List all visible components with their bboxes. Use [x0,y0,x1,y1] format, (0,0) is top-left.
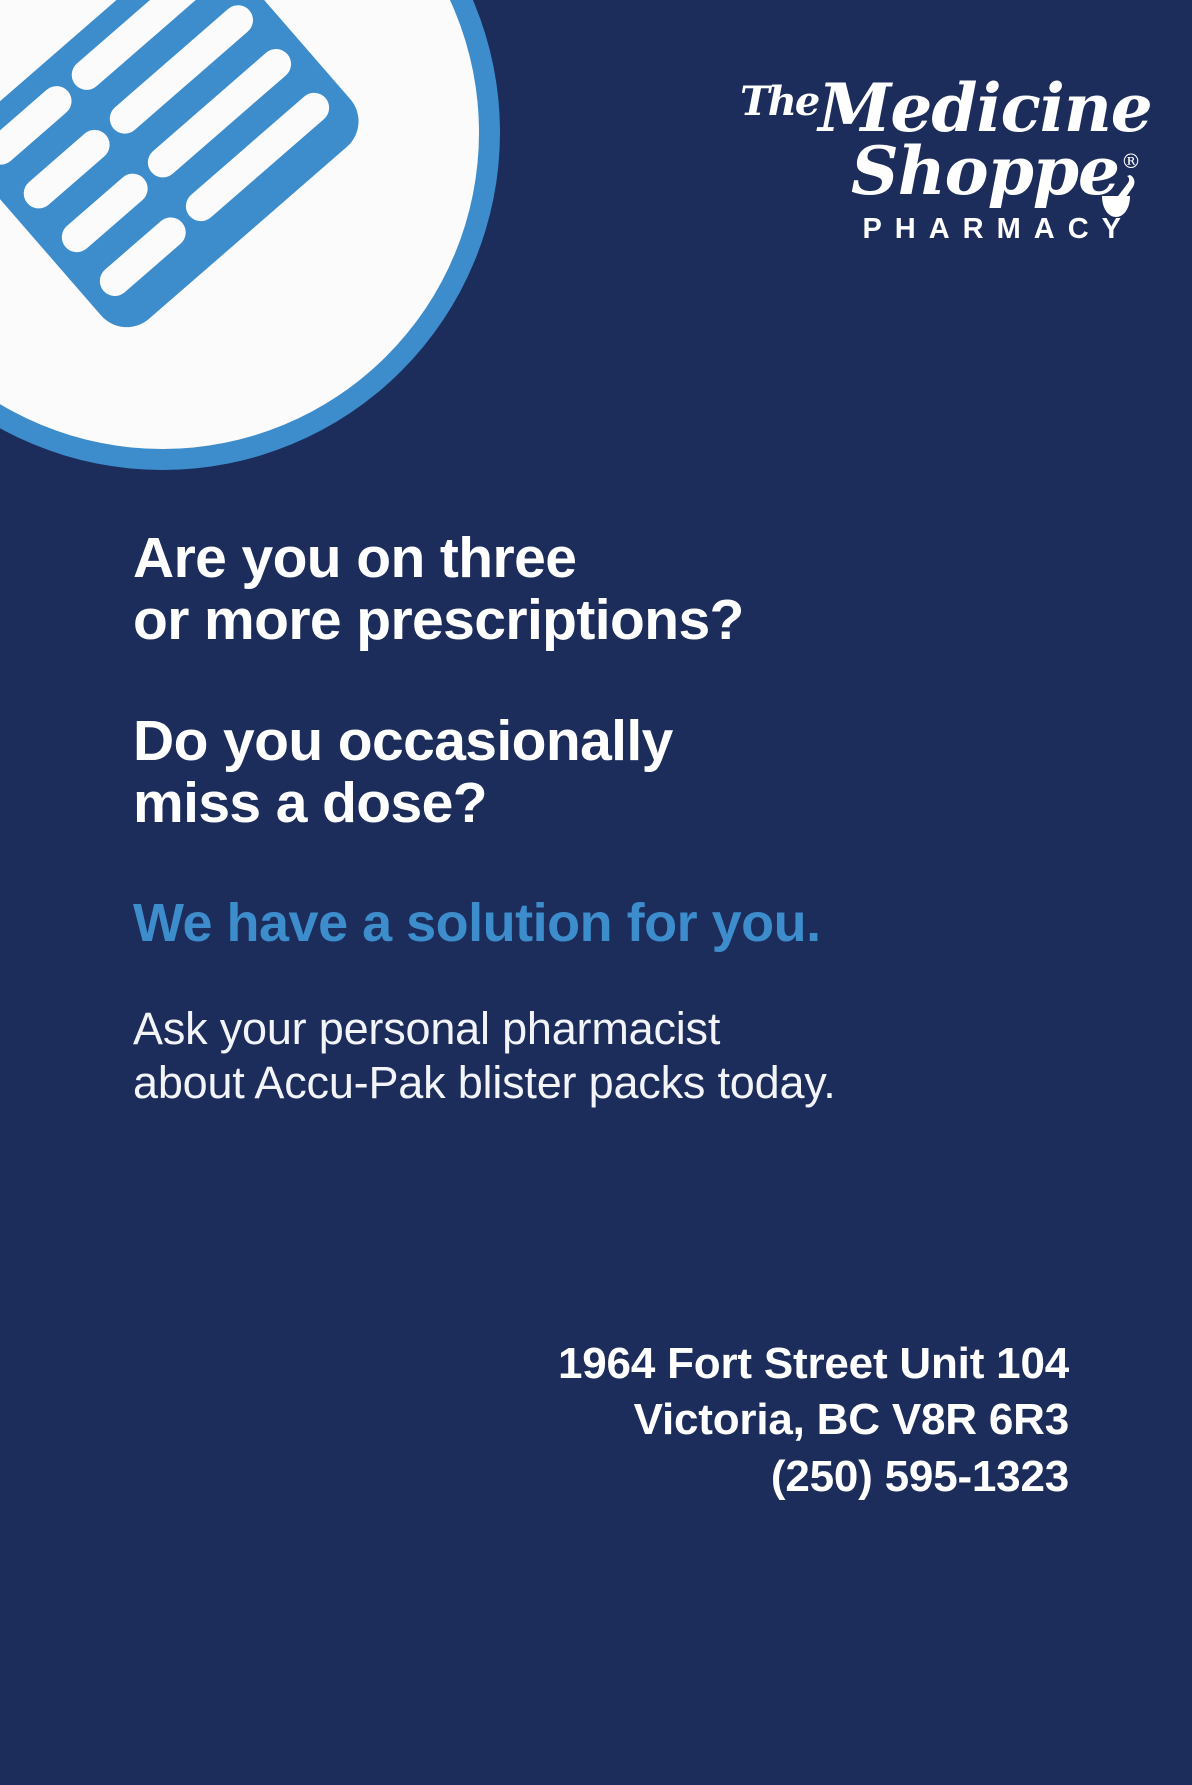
blister-pack-body [0,0,372,341]
logo-shoppe-text: Shoppe [851,132,1119,210]
address-phone[interactable]: (250) 595-1323 [558,1449,1069,1505]
address-street: 1964 Fort Street Unit 104 [558,1336,1069,1392]
tagline-solution: We have a solution for you. [133,894,1072,953]
address-block: 1964 Fort Street Unit 104 Victoria, BC V… [558,1336,1069,1505]
main-copy: Are you on three or more prescriptions? … [133,528,1072,1111]
logo-the-text: The [740,78,818,125]
headline-prescriptions: Are you on three or more prescriptions? [133,528,1072,651]
badge-ring [0,0,500,470]
body-copy-accu-pak: Ask your personal pharmacist about Accu-… [133,1002,1072,1112]
poster-canvas: TheMedicine Shoppe® PHARMACY Are you on … [0,0,1192,1785]
brand-logo: TheMedicine Shoppe® PHARMACY [740,78,1140,246]
registered-trademark-icon: ® [1121,149,1140,173]
mortar-and-pestle-icon [1100,174,1142,220]
logo-line-two: Shoppe® [740,141,1140,202]
headline-miss-dose: Do you occasionally miss a dose? [133,711,1072,834]
address-city: Victoria, BC V8R 6R3 [558,1392,1069,1448]
blister-pack-icon [0,0,382,398]
logo-line-one: TheMedicine [740,78,1140,139]
logo-pharmacy-text: PHARMACY [740,213,1140,246]
logo-wordmark: TheMedicine Shoppe® [740,78,1140,201]
badge-circle [0,0,479,449]
